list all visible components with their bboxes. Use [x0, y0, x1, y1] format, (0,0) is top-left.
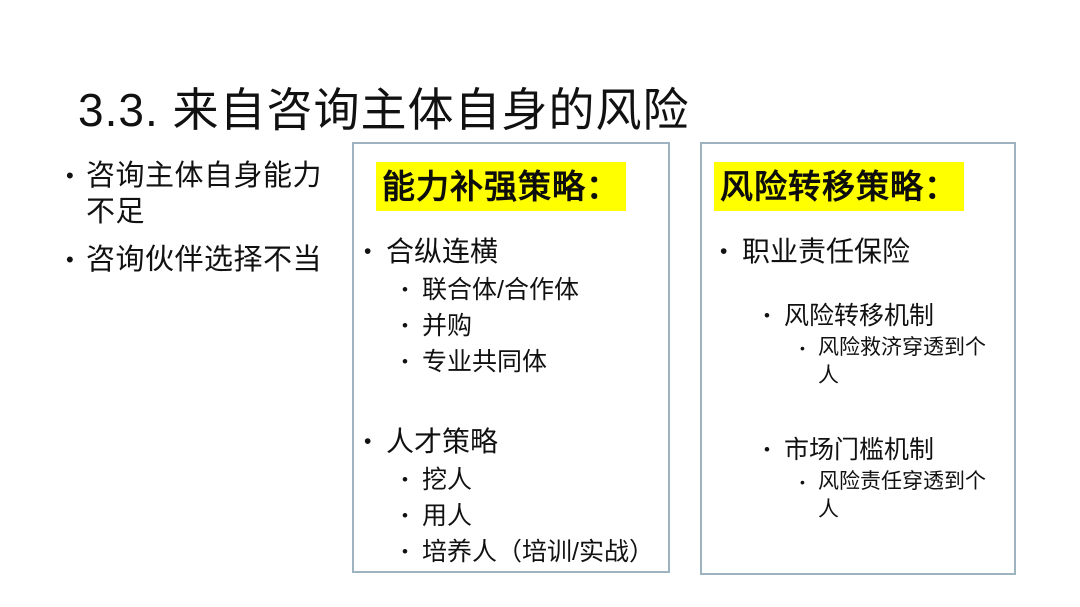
bullet-icon: • [764, 432, 784, 468]
bullet-icon: • [800, 468, 818, 496]
sub-item-label: 市场门槛机制 [784, 432, 934, 468]
list-item: • 风险责任穿透到个人 [800, 468, 1014, 524]
bullet-icon: • [66, 242, 86, 278]
transfer-box-heading: 风险转移策略： [714, 162, 964, 211]
bullet-icon: • [720, 232, 742, 272]
bullet-icon: • [764, 298, 784, 334]
list-item: • 培养人（培训/实战） [402, 534, 668, 570]
bullet-icon: • [402, 498, 422, 534]
risk-item-label: 咨询主体自身能力不足 [86, 158, 336, 230]
bullet-icon: • [402, 462, 422, 498]
group-spacer [702, 272, 1014, 298]
sub-item-label: 培养人（培训/实战） [422, 534, 654, 570]
list-item: • 风险救济穿透到个人 [800, 334, 1014, 390]
detail-label: 风险责任穿透到个人 [818, 468, 990, 524]
list-item: • 人才策略 [364, 422, 668, 462]
list-item: • 合纵连横 [364, 232, 668, 272]
bullet-icon: • [402, 344, 422, 380]
bullet-icon: • [402, 308, 422, 344]
sub-item-label: 专业共同体 [422, 344, 547, 380]
list-item: • 并购 [402, 308, 668, 344]
capability-box-body: • 合纵连横 • 联合体/合作体 • 并购 • 专业共同体 • 人才策略 • [354, 232, 668, 570]
sub-item-label: 联合体/合作体 [422, 272, 579, 308]
list-item: • 风险转移机制 [764, 298, 1014, 334]
list-item: • 专业共同体 [402, 344, 668, 380]
page-title: 3.3. 来自咨询主体自身的风险 [78, 81, 690, 139]
bullet-icon: • [66, 158, 86, 194]
group-label: 人才策略 [386, 422, 498, 462]
bullet-icon: • [364, 232, 386, 272]
list-item: • 挖人 [402, 462, 668, 498]
bullet-icon: • [364, 422, 386, 462]
list-item: • 职业责任保险 [720, 232, 1014, 272]
list-item: • 联合体/合作体 [402, 272, 668, 308]
bullet-icon: • [402, 534, 422, 570]
sub-item-label: 用人 [422, 498, 472, 534]
group-spacer [702, 390, 1014, 432]
group-spacer [354, 380, 668, 422]
list-item: • 咨询伙伴选择不当 [66, 242, 336, 278]
list-item: • 用人 [402, 498, 668, 534]
bullet-icon: • [800, 334, 818, 362]
slide-canvas: 3.3. 来自咨询主体自身的风险 • 咨询主体自身能力不足 • 咨询伙伴选择不当… [0, 0, 1080, 607]
detail-label: 风险救济穿透到个人 [818, 334, 990, 390]
risk-bullet-list: • 咨询主体自身能力不足 • 咨询伙伴选择不当 [66, 158, 336, 290]
sub-item-label: 并购 [422, 308, 472, 344]
sub-item-label: 风险转移机制 [784, 298, 934, 334]
risk-transfer-strategy-box: 风险转移策略： • 职业责任保险 • 风险转移机制 • 风险救济穿透到个人 • … [700, 142, 1016, 575]
group-label: 合纵连横 [386, 232, 498, 272]
list-item: • 咨询主体自身能力不足 [66, 158, 336, 230]
capability-strategy-box: 能力补强策略： • 合纵连横 • 联合体/合作体 • 并购 • 专业共同体 • [352, 142, 670, 573]
capability-box-heading: 能力补强策略： [376, 162, 626, 211]
list-item: • 市场门槛机制 [764, 432, 1014, 468]
bullet-icon: • [402, 272, 422, 308]
transfer-box-body: • 职业责任保险 • 风险转移机制 • 风险救济穿透到个人 • 市场门槛机制 •… [702, 232, 1014, 524]
group-label: 职业责任保险 [742, 232, 910, 272]
sub-item-label: 挖人 [422, 462, 472, 498]
risk-item-label: 咨询伙伴选择不当 [86, 242, 336, 278]
